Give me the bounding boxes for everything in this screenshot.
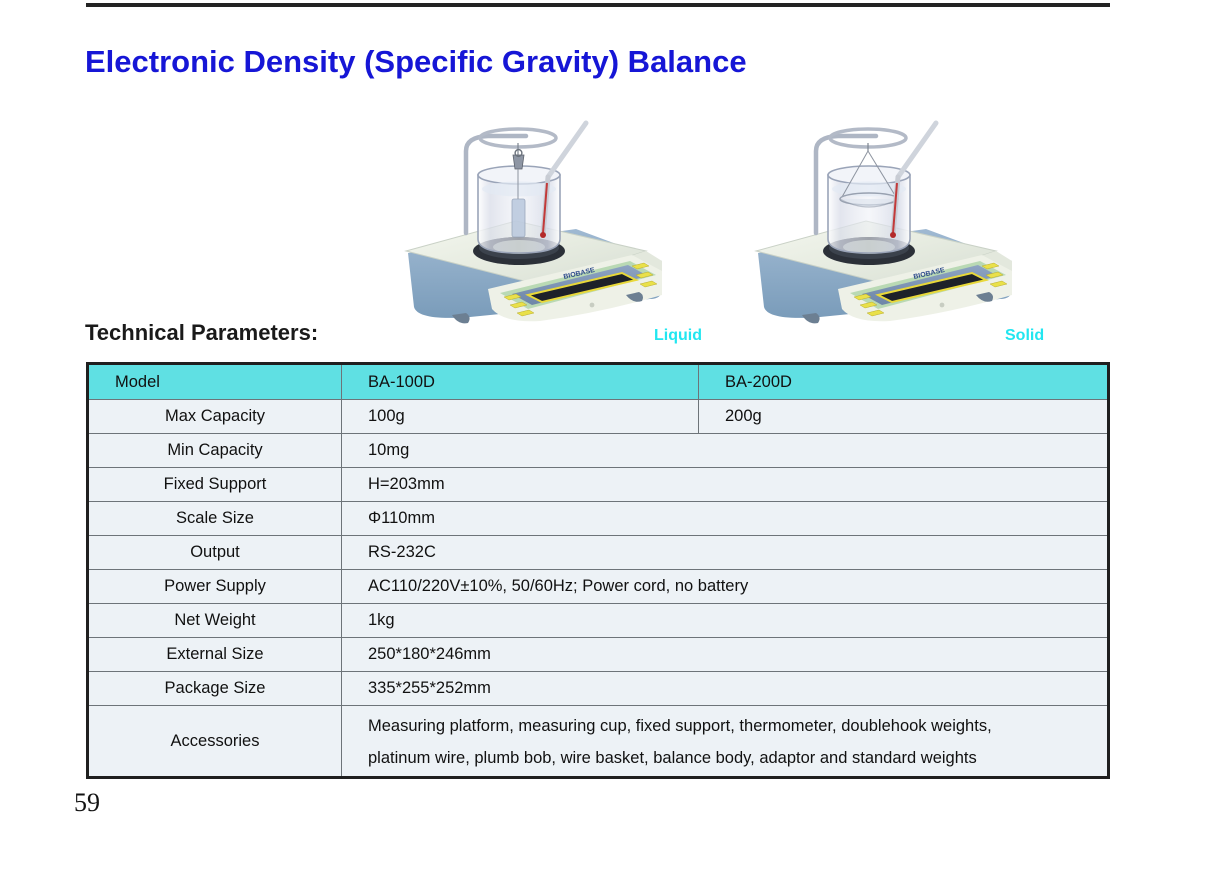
table-header-ba-100d: BA-100D [342,364,699,400]
row-label: Output [88,536,342,570]
accessories-line-2: platinum wire, plumb bob, wire basket, b… [368,742,1107,774]
technical-parameters-table: Model BA-100D BA-200D Max Capacity 100g … [86,362,1110,779]
row-value-ba200d: 200g [699,400,1109,434]
photo-caption-liquid: Liquid [654,327,702,345]
row-label: Max Capacity [88,400,342,434]
document-page: Electronic Density (Specific Gravity) Ba… [0,0,1214,874]
table-row: Scale Size Φ110mm [88,502,1109,536]
table-header-row: Model BA-100D BA-200D [88,364,1109,400]
row-value: Φ110mm [342,502,1109,536]
table-row: Power Supply AC110/220V±10%, 50/60Hz; Po… [88,570,1109,604]
page-title: Electronic Density (Specific Gravity) Ba… [85,44,747,80]
row-value: 10mg [342,434,1109,468]
table-row: Net Weight 1kg [88,604,1109,638]
product-photo-solid: BIOBASE [750,103,1020,333]
row-label: Power Supply [88,570,342,604]
row-value: H=203mm [342,468,1109,502]
row-label: Package Size [88,672,342,706]
row-label: Min Capacity [88,434,342,468]
row-label: Accessories [88,706,342,778]
row-value: 250*180*246mm [342,638,1109,672]
section-label-technical-parameters: Technical Parameters: [85,320,318,346]
table-header-ba-200d: BA-200D [699,364,1109,400]
product-photo-liquid: BIOBASE [400,103,670,333]
page-number: 59 [74,788,100,818]
accessories-line-1: Measuring platform, measuring cup, fixed… [368,710,1107,742]
photo-caption-solid: Solid [1005,327,1044,345]
row-value: 1kg [342,604,1109,638]
table-row: External Size 250*180*246mm [88,638,1109,672]
row-value-accessories: Measuring platform, measuring cup, fixed… [342,706,1109,778]
row-label: Scale Size [88,502,342,536]
row-label: External Size [88,638,342,672]
row-label: Fixed Support [88,468,342,502]
row-value: 335*255*252mm [342,672,1109,706]
table-row: Package Size 335*255*252mm [88,672,1109,706]
table-row: Output RS-232C [88,536,1109,570]
table-row: Min Capacity 10mg [88,434,1109,468]
table-row-accessories: Accessories Measuring platform, measurin… [88,706,1109,778]
table-row: Max Capacity 100g 200g [88,400,1109,434]
row-label: Net Weight [88,604,342,638]
table-row: Fixed Support H=203mm [88,468,1109,502]
row-value-ba100d: 100g [342,400,699,434]
row-value: RS-232C [342,536,1109,570]
row-value: AC110/220V±10%, 50/60Hz; Power cord, no … [342,570,1109,604]
top-rule-divider [86,3,1110,7]
table-header-model: Model [88,364,342,400]
